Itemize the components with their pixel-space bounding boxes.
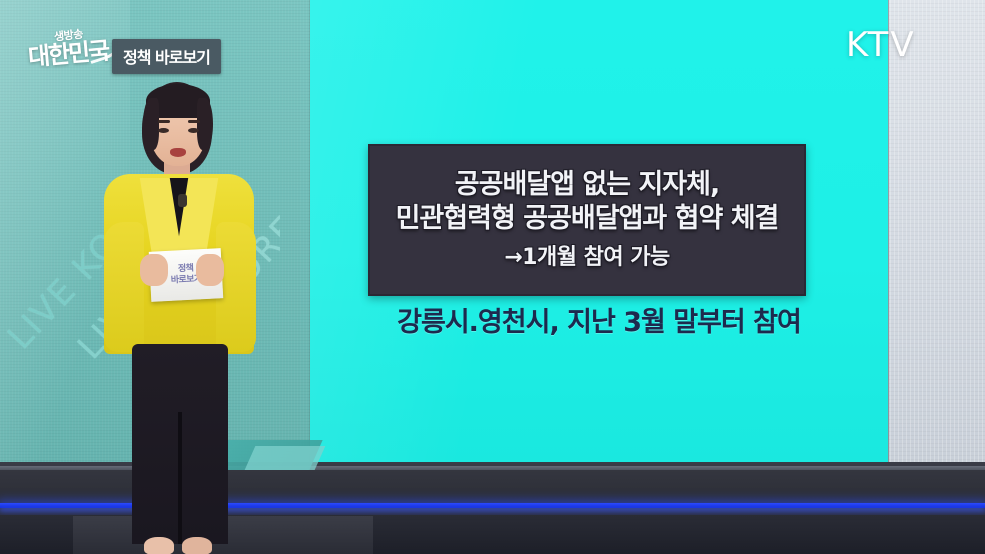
presenter: 정책 바로보기 (96, 82, 266, 554)
presenter-eye-left (158, 128, 169, 133)
presenter-microphone (178, 194, 187, 207)
presenter-hand-right (196, 254, 224, 286)
presenter-hair-right (197, 98, 213, 150)
headline-line-2: 민관협력형 공공배달앱과 협약 체결 (396, 203, 779, 235)
presenter-eyebrow-right (188, 120, 200, 123)
headline-box: 공공배달앱 없는 지자체, 민관협력형 공공배달앱과 협약 체결 →1개월 참여… (368, 144, 806, 296)
presenter-trousers-split (178, 412, 182, 544)
headline-line-1: 공공배달앱 없는 지자체, (455, 169, 719, 201)
presenter-eyebrow-left (158, 120, 170, 123)
presenter-shoe-right (182, 537, 212, 554)
presenter-eye-right (188, 128, 199, 133)
presenter-hair-left (143, 98, 159, 150)
presenter-mouth (170, 148, 186, 157)
presenter-hand-left (140, 254, 168, 286)
channel-logo: KTV (846, 25, 916, 65)
presenter-arm-left (104, 222, 144, 352)
studio-wall-grey (886, 0, 985, 476)
segment-badge: 정책 바로보기 (112, 39, 221, 74)
presenter-shoe-left (144, 537, 174, 554)
subheadline-text: 강릉시.영천시, 지난 3월 말부터 참여 (310, 300, 888, 339)
headline-line-3: →1개월 참여 가능 (504, 245, 670, 271)
broadcast-screenshot: LIVE KOREA LIVE KOREA LIVE KOREA 공공배달앱 없… (0, 0, 985, 554)
cue-card-line-1: 정책 (178, 263, 194, 275)
